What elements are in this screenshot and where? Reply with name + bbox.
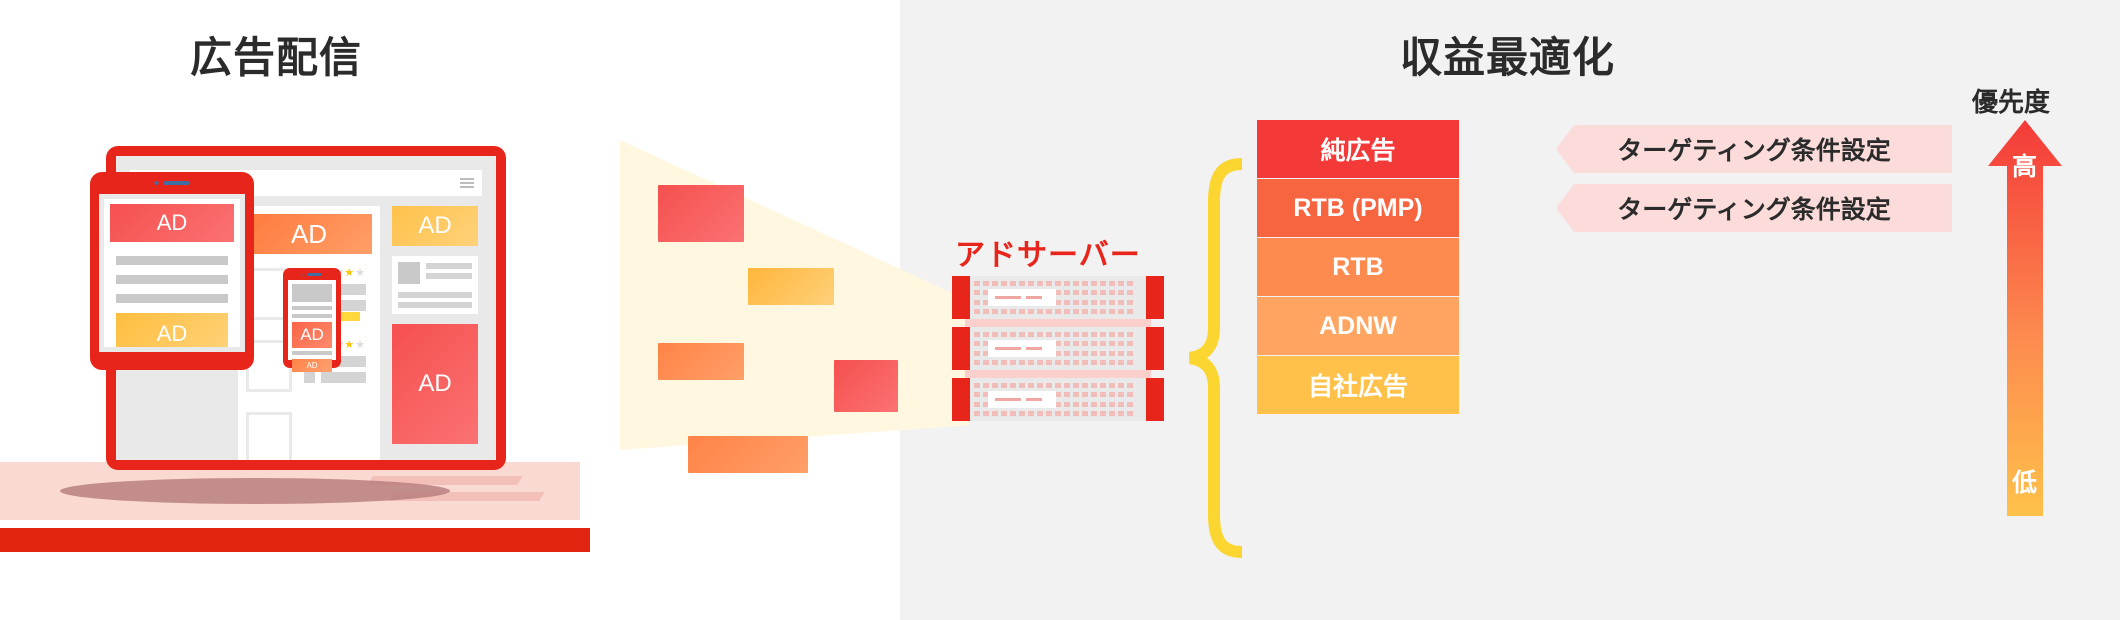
laptop-front-edge (0, 528, 590, 552)
section-title-ad-delivery: 広告配信 (190, 24, 362, 85)
phone-camera-icon (303, 273, 322, 276)
floating-ad-creative (658, 185, 744, 242)
star-rating-icon: ♥★★ (337, 338, 366, 351)
ad-slot-phone-main: AD (292, 322, 332, 348)
star-rating-icon: ♥★★ (337, 266, 366, 279)
tablet-screen: AD AD (99, 194, 245, 352)
grouping-brace (1186, 158, 1246, 558)
text-placeholder-line (292, 314, 332, 318)
ad-type-box[interactable]: RTB (PMP) (1257, 179, 1459, 237)
ad-slot-tablet-bottom: AD (116, 313, 228, 347)
ad-slot-sidebar-top: AD (392, 206, 478, 246)
server-display-panel (988, 391, 1056, 408)
targeting-condition-chip[interactable]: ターゲティング条件設定 (1556, 125, 1952, 173)
ad-type-box[interactable]: 自社広告 (1257, 356, 1459, 414)
text-placeholder-line (292, 351, 332, 355)
phone-screen: AD AD (288, 280, 336, 360)
tablet-device: AD AD (90, 172, 254, 370)
server-display-panel (988, 289, 1056, 306)
infographic-canvas: 広告配信 収益最適化 AD (0, 0, 2120, 620)
server-rack-spacer (965, 319, 1151, 327)
floating-ad-creative (658, 343, 744, 380)
ad-type-box[interactable]: ADNW (1257, 297, 1459, 355)
priority-high-label: 高 (2012, 147, 2037, 183)
tablet-camera-icon (155, 181, 190, 185)
ad-type-box[interactable]: RTB (1257, 238, 1459, 296)
image-placeholder (292, 284, 332, 302)
server-unit (952, 276, 1164, 319)
text-placeholder-line (116, 256, 228, 265)
server-unit (952, 327, 1164, 370)
thumbnail-placeholder (246, 412, 292, 460)
floating-ad-creative (834, 360, 898, 412)
priority-low-label: 低 (2012, 463, 2037, 499)
ad-type-box[interactable]: 純広告 (1257, 120, 1459, 178)
ad-slot-banner: AD (246, 214, 372, 254)
server-unit (952, 378, 1164, 421)
webpage-right-column: AD AD (388, 206, 482, 460)
text-placeholder-line (292, 306, 332, 310)
server-rack-spacer (965, 370, 1151, 378)
news-card-placeholder (392, 256, 478, 314)
floating-ad-creative (688, 436, 808, 473)
smartphone-device: AD AD (283, 268, 341, 368)
ad-server-rack (952, 378, 1164, 452)
tablet-page-content: AD AD (104, 199, 240, 347)
priority-axis-label: 優先度 (1972, 82, 2050, 119)
floating-ad-creative (748, 268, 834, 305)
ad-slot-phone-footer: AD (292, 359, 332, 372)
hamburger-menu-icon (460, 178, 474, 188)
text-placeholder-line (116, 294, 228, 303)
targeting-condition-chip[interactable]: ターゲティング条件設定 (1556, 184, 1952, 232)
ad-slot-tablet-top: AD (110, 204, 234, 242)
content-list-item (246, 408, 372, 460)
brace-shape-icon (1186, 158, 1246, 558)
section-title-revenue-optimization: 収益最適化 (1400, 24, 1615, 85)
text-placeholder-line (116, 275, 228, 284)
device-shadow (60, 478, 450, 504)
server-display-panel (988, 340, 1056, 357)
ad-slot-sidebar-bottom: AD (392, 324, 478, 444)
ad-server-label: アドサーバー (955, 230, 1141, 274)
